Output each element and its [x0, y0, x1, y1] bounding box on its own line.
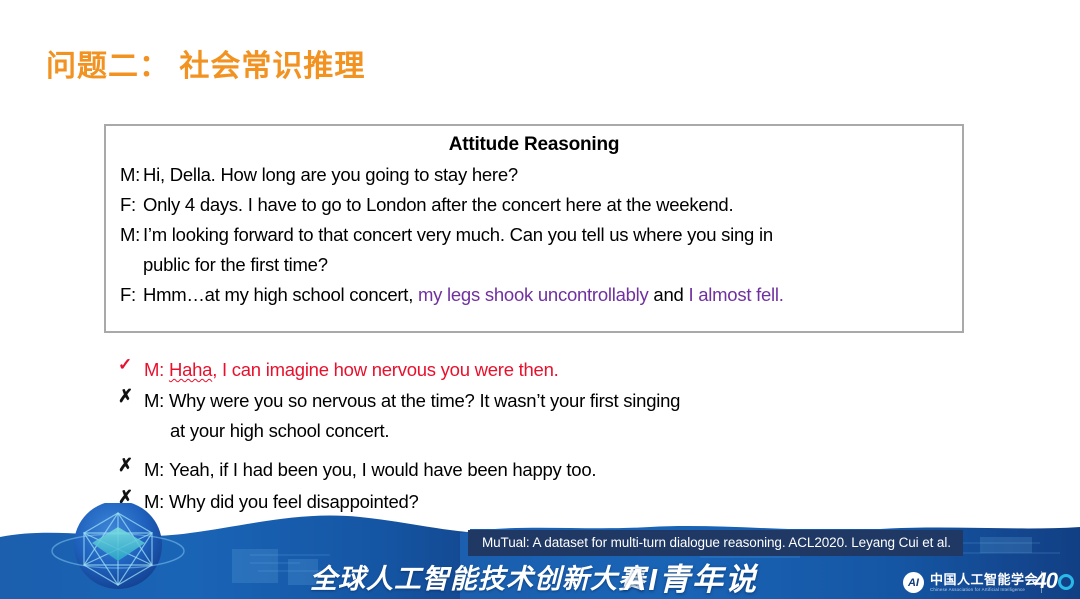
speaker-label: M:	[144, 390, 164, 411]
speaker-label: F:	[120, 280, 143, 310]
misspelled-word: Haha	[169, 359, 212, 380]
answer-option-text: M: Why were you so nervous at the time? …	[144, 386, 680, 446]
answer-body: Yeah, if I had been you, I would have be…	[169, 459, 596, 480]
highlight-phrase-two: I almost fell	[688, 284, 778, 305]
event-title: 全球人工智能技术创新大赛	[310, 557, 646, 596]
dialogue-text: Hi, Della. How long are you going to sta…	[143, 164, 518, 185]
speaker-label: M:	[144, 359, 164, 380]
dialogue-line: M:Hi, Della. How long are you going to s…	[120, 160, 948, 190]
speaker-label: M:	[120, 220, 143, 250]
page-title: 问题二： 社会常识推理	[46, 41, 365, 85]
dialogue-line-continuation: public for the first time?	[120, 250, 948, 280]
slide-canvas: 问题二： 社会常识推理 Attitude Reasoning M:Hi, Del…	[0, 0, 1080, 599]
cross-icon: ✗	[118, 386, 144, 407]
caai-badge-icon: AI	[903, 572, 924, 593]
answer-body-line2: at your high school concert.	[144, 416, 680, 446]
dialogue-text: public for the first time?	[143, 254, 328, 275]
dialogue-text: .	[779, 284, 784, 305]
caai-name-cn: 中国人工智能学会	[930, 573, 1038, 586]
dialogue-text: Hmm…at my high school concert,	[143, 284, 418, 305]
answer-option-correct[interactable]: ✓ M: Haha, I can imagine how nervous you…	[118, 355, 978, 385]
speaker-label: F:	[120, 190, 143, 220]
program-name: AI青年说	[624, 554, 758, 599]
speaker-label: M:	[144, 459, 164, 480]
dialogue-heading: Attitude Reasoning	[120, 134, 948, 156]
dialogue-line: F:Hmm…at my high school concert, my legs…	[120, 280, 948, 310]
highlight-phrase-one: my legs shook uncontrollably	[418, 284, 649, 305]
answer-body: , I can imagine how nervous you were the…	[212, 359, 558, 380]
caai-name-en: Chinese Association for Artificial Intel…	[930, 588, 1038, 592]
anniversary-mark: 40	[1035, 568, 1074, 594]
answer-option-wrong[interactable]: ✗ M: Why were you so nervous at the time…	[118, 386, 978, 446]
answer-options-list: ✓ M: Haha, I can imagine how nervous you…	[118, 355, 978, 517]
anniversary-number: 40	[1035, 568, 1057, 593]
answer-option-text: M: Yeah, if I had been you, I would have…	[144, 455, 596, 485]
caai-logo: AI 中国人工智能学会 Chinese Association for Arti…	[903, 572, 1038, 593]
answer-option-wrong[interactable]: ✗ M: Yeah, if I had been you, I would ha…	[118, 455, 978, 485]
answer-option-text: M: Haha, I can imagine how nervous you w…	[144, 355, 559, 385]
dialogue-text: Only 4 days. I have to go to London afte…	[143, 194, 733, 215]
caai-name: 中国人工智能学会 Chinese Association for Artific…	[930, 573, 1038, 592]
anniversary-ring-icon	[1058, 574, 1074, 590]
answer-body: Why were you so nervous at the time? It …	[169, 390, 680, 411]
dialogue-text: I’m looking forward to that concert very…	[143, 224, 773, 245]
dialogue-line: F:Only 4 days. I have to go to London af…	[120, 190, 948, 220]
speaker-label: M:	[120, 160, 143, 190]
dialogue-text: and	[649, 284, 689, 305]
cross-icon: ✗	[118, 455, 144, 476]
dialogue-box: Attitude Reasoning M:Hi, Della. How long…	[104, 124, 964, 333]
dialogue-line: M:I’m looking forward to that concert ve…	[120, 220, 948, 250]
citation-bar: MuTual: A dataset for multi-turn dialogu…	[468, 530, 963, 556]
check-icon: ✓	[118, 355, 144, 375]
